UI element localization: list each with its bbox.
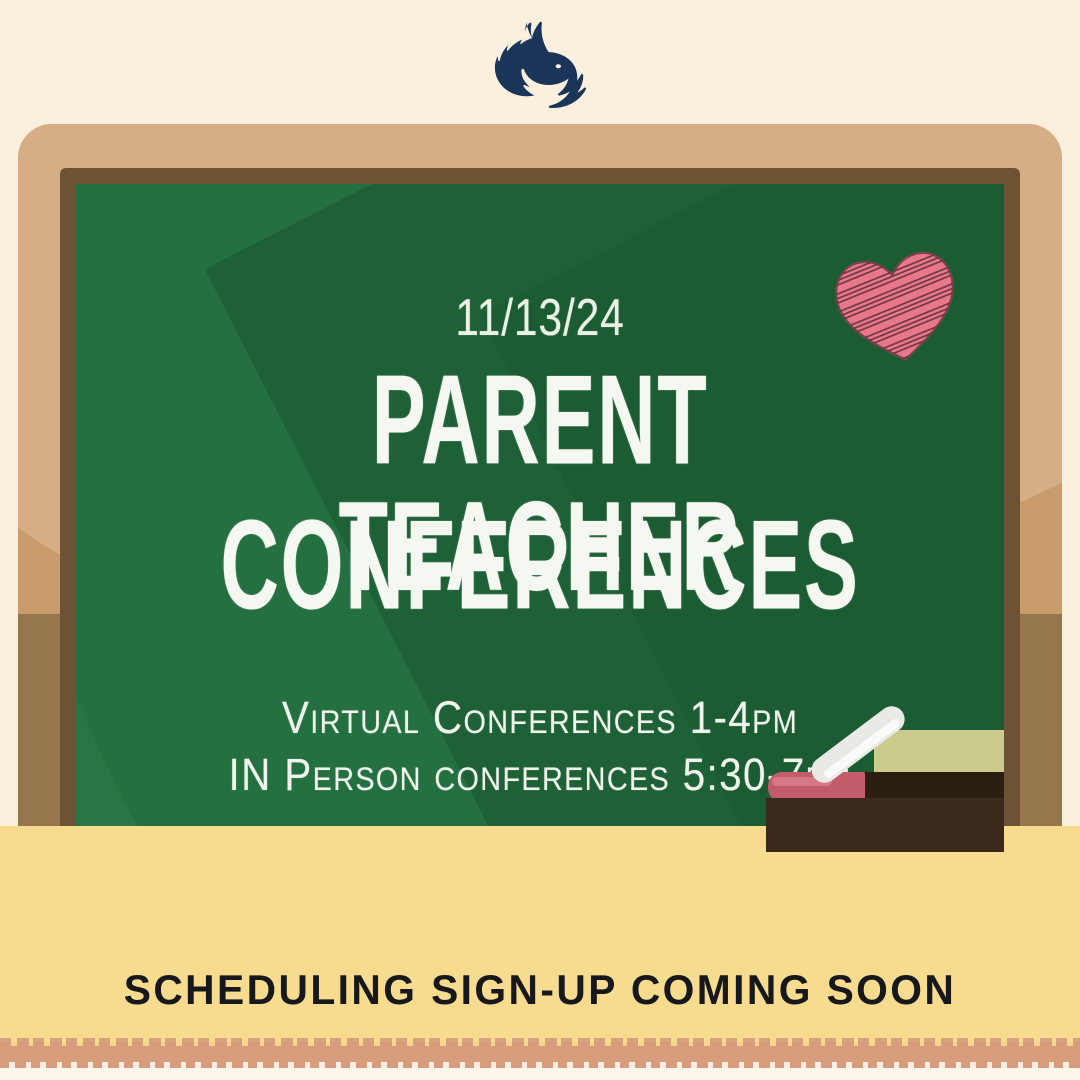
tray-base: [766, 798, 1004, 852]
poster-canvas: 11/13/24 PARENT TEACHER CONFERENCES Virt…: [0, 0, 1080, 1080]
school-logo: [0, 14, 1080, 114]
footer-brush-stripe: [0, 1042, 1080, 1068]
eraser-icon: [874, 730, 1004, 774]
chalkboard-frame: 11/13/24 PARENT TEACHER CONFERENCES Virt…: [18, 124, 1062, 914]
footer-baseline: [0, 1068, 1080, 1080]
scribbled-heart-icon: [823, 237, 970, 376]
chalkboard-bevel: 11/13/24 PARENT TEACHER CONFERENCES Virt…: [60, 168, 1020, 868]
poster-title-line-2: CONFERENCES: [178, 503, 902, 630]
event-date: 11/13/24: [160, 288, 921, 348]
chalk-tray: [766, 724, 1004, 852]
footer-message: SCHEDULING SIGN-UP COMING SOON: [16, 966, 1064, 1014]
chalkboard-surface: 11/13/24 PARENT TEACHER CONFERENCES Virt…: [76, 184, 1004, 852]
husky-head-icon: [474, 16, 606, 112]
